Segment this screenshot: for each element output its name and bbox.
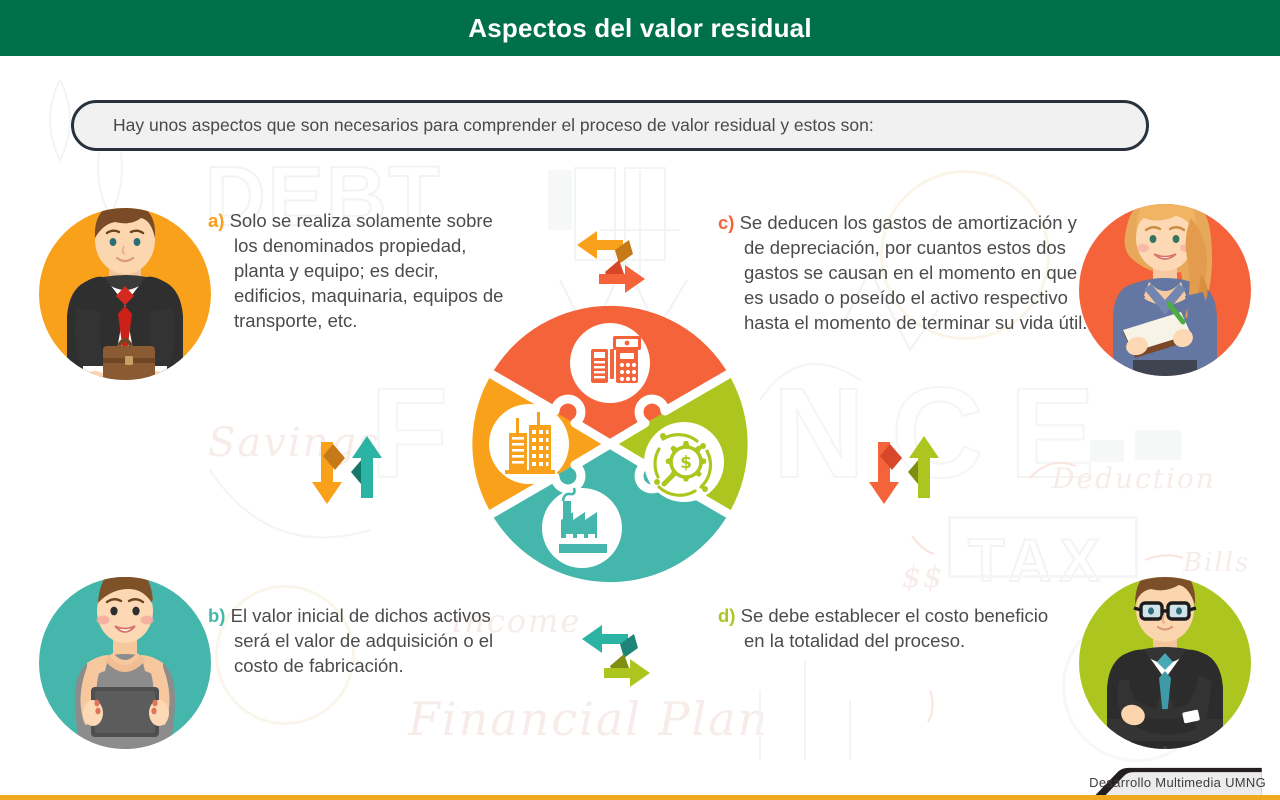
slide-header: Aspectos del valor residual — [0, 0, 1280, 56]
man-glasses-crossed-arms-icon — [1065, 555, 1265, 755]
money-magnifier-icon: $ — [644, 422, 724, 502]
updown-arrow-left-graphic — [305, 428, 389, 512]
factory-icon — [542, 488, 622, 568]
intro-callout: Hay unos aspectos que son necesarios par… — [71, 100, 1149, 151]
item-b-label: b) — [208, 605, 225, 626]
footer-accent-bar — [0, 795, 1280, 800]
man-glasses-crossed-arms-avatar — [1079, 577, 1251, 749]
z-arrow-top — [563, 216, 659, 304]
item-d-body: Se debe establecer el costo beneficio en… — [741, 605, 1049, 651]
updown-arrow-right — [862, 428, 946, 512]
watermark-deduction: Deduction — [1052, 462, 1216, 495]
z-arrow-bottom — [568, 610, 664, 698]
four-piece-puzzle-wheel: $ — [471, 305, 749, 583]
calculator-icon — [570, 323, 650, 403]
item-c-label: c) — [718, 212, 734, 233]
businessman-briefcase-icon — [25, 186, 225, 386]
item-c-body: Se deducen los gastos de amortización y … — [740, 212, 1088, 333]
item-c-paragraph: c) Se deducen los gastos de amortización… — [718, 210, 1090, 335]
footer-credit: Desarrollo Multimedia UMNG — [1089, 775, 1266, 790]
slide-footer: Desarrollo Multimedia UMNG — [0, 756, 1280, 800]
item-d-label: d) — [718, 605, 735, 626]
woman-tablet-icon — [25, 555, 225, 755]
z-arrow-top-graphic — [563, 216, 659, 304]
item-a-body: Solo se realiza solamente sobre los deno… — [230, 210, 504, 331]
watermark-financial-plan: Financial Plan — [408, 692, 769, 746]
item-d-text-block: d) Se debe establecer el costo beneficio… — [718, 603, 1068, 653]
woman-notebook-avatar — [1079, 204, 1251, 376]
item-a-paragraph: a) Solo se realiza solamente sobre los d… — [208, 208, 508, 333]
slide-root: DEBT FINANCE Savings income Financial Pl… — [0, 0, 1280, 800]
puzzle-wheel-graphic: $ — [471, 305, 749, 583]
item-c-text-block: c) Se deducen los gastos de amortización… — [718, 210, 1090, 335]
updown-arrow-right-graphic — [862, 428, 946, 512]
item-b-body: El valor inicial de dichos activos será … — [231, 605, 494, 676]
watermark-dollar-signs: $$ — [902, 560, 944, 595]
woman-notebook-icon — [1065, 182, 1265, 382]
svg-text:$: $ — [680, 453, 692, 473]
businessman-briefcase-avatar — [39, 208, 211, 380]
item-b-paragraph: b) El valor inicial de dichos activos se… — [208, 603, 498, 678]
z-arrow-bottom-graphic — [568, 610, 664, 698]
updown-arrow-left — [305, 428, 389, 512]
item-a-label: a) — [208, 210, 224, 231]
woman-tablet-avatar — [39, 577, 211, 749]
intro-text: Hay unos aspectos que son necesarios par… — [74, 115, 874, 136]
item-a-text-block: a) Solo se realiza solamente sobre los d… — [208, 208, 508, 333]
item-d-paragraph: d) Se debe establecer el costo beneficio… — [718, 603, 1068, 653]
page-title: Aspectos del valor residual — [468, 13, 812, 44]
item-b-text-block: b) El valor inicial de dichos activos se… — [208, 603, 498, 678]
buildings-icon — [489, 404, 569, 484]
